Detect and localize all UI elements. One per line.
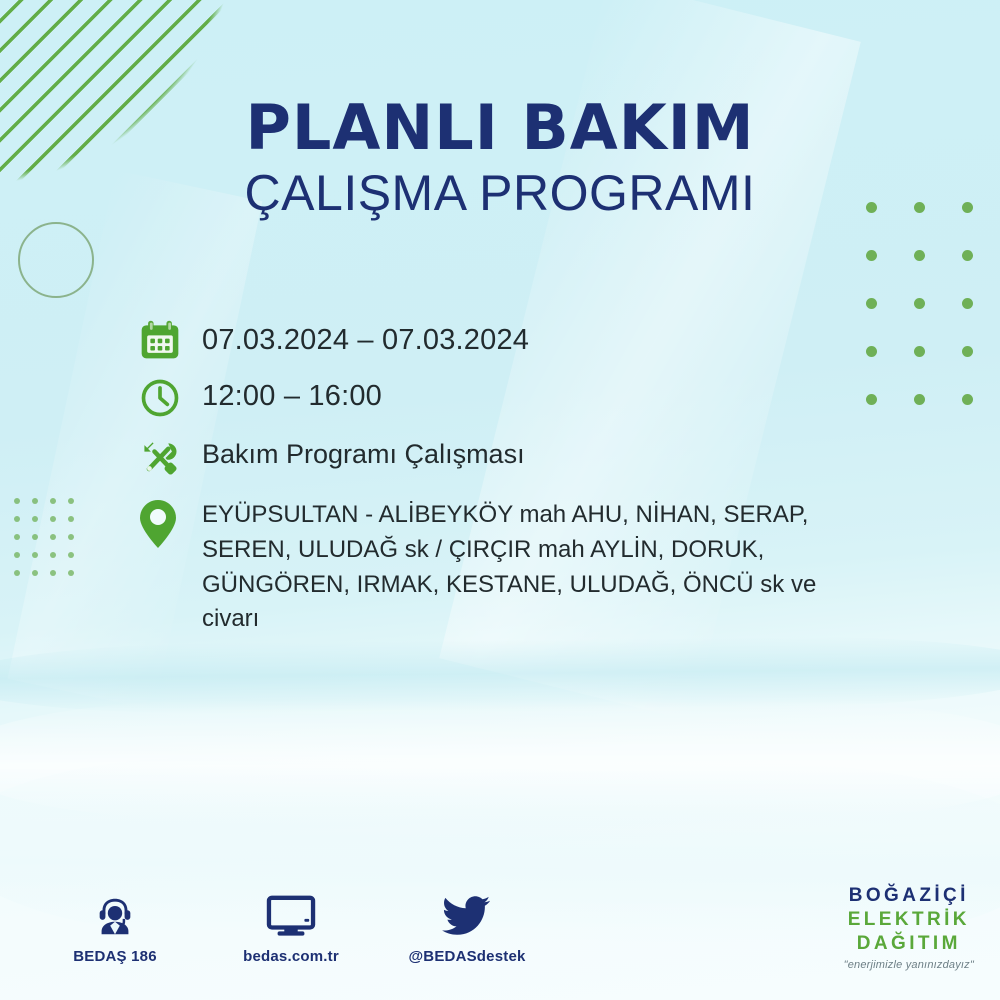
brand-logo: BOĞAZİÇİ ELEKTRİK DAĞITIM "enerjimizle y…: [844, 884, 974, 971]
contact-twitter[interactable]: @BEDASdestek: [407, 890, 527, 965]
decor-dot: [32, 570, 38, 576]
decor-dot: [50, 534, 56, 540]
decor-dot: [32, 552, 38, 558]
decor-dot: [32, 498, 38, 504]
decor-dot: [50, 570, 56, 576]
contact-bar: BEDAŞ 186 bedas.com.tr @BEDASdestek: [55, 890, 527, 965]
contact-phone-label: BEDAŞ 186: [55, 948, 175, 965]
brand-line-3: DAĞITIM: [844, 932, 974, 956]
contact-phone[interactable]: BEDAŞ 186: [55, 890, 175, 965]
info-row-location: EYÜPSULTAN - ALİBEYKÖY mah AHU, NİHAN, S…: [138, 498, 898, 637]
location-pin-icon: [138, 498, 202, 550]
background-wave: [0, 700, 1000, 820]
contact-website[interactable]: bedas.com.tr: [231, 890, 351, 965]
tools-icon: [138, 436, 202, 480]
monitor-icon: [231, 890, 351, 942]
calendar-icon: [138, 318, 202, 362]
decor-dot: [32, 516, 38, 522]
decor-dot: [68, 516, 74, 522]
contact-website-label: bedas.com.tr: [231, 948, 351, 965]
decor-dot: [14, 552, 20, 558]
info-block: 07.03.2024 – 07.03.2024 12:00 – 16:00: [138, 318, 898, 655]
brand-line-2: ELEKTRİK: [844, 908, 974, 932]
page-subtitle: ÇALIŞMA PROGRAMI: [0, 167, 1000, 220]
decor-dot: [914, 298, 925, 309]
decor-dot: [962, 298, 973, 309]
date-range-value: 07.03.2024 – 07.03.2024: [202, 318, 529, 357]
poster-canvas: PLANLI BAKIM ÇALIŞMA PROGRAMI: [0, 0, 1000, 1000]
decor-dot: [914, 394, 925, 405]
decor-dot: [866, 250, 877, 261]
info-row-work: Bakım Programı Çalışması: [138, 436, 898, 480]
decor-dot: [50, 498, 56, 504]
info-row-time: 12:00 – 16:00: [138, 376, 898, 420]
twitter-bird-icon: [407, 890, 527, 942]
contact-twitter-label: @BEDASdestek: [407, 948, 527, 965]
brand-line-1: BOĞAZİÇİ: [844, 884, 974, 908]
time-range-value: 12:00 – 16:00: [202, 376, 382, 413]
decor-dot: [68, 570, 74, 576]
decor-dot: [68, 498, 74, 504]
decor-dot: [32, 534, 38, 540]
decor-dot: [50, 552, 56, 558]
decor-dot: [68, 534, 74, 540]
decor-dot: [914, 346, 925, 357]
decor-dot: [50, 516, 56, 522]
circle-outline-decoration: [18, 222, 94, 298]
work-type-value: Bakım Programı Çalışması: [202, 436, 525, 470]
clock-icon: [138, 376, 202, 420]
decor-dot: [962, 346, 973, 357]
decor-dot: [14, 516, 20, 522]
location-value: EYÜPSULTAN - ALİBEYKÖY mah AHU, NİHAN, S…: [202, 498, 842, 637]
decor-dot: [14, 534, 20, 540]
info-row-date: 07.03.2024 – 07.03.2024: [138, 318, 898, 362]
decor-dot: [914, 250, 925, 261]
brand-slogan: "enerjimizle yanınızdayız": [844, 959, 974, 971]
decor-dot: [962, 394, 973, 405]
decor-dot: [866, 298, 877, 309]
decor-dot: [14, 570, 20, 576]
decor-dot: [14, 498, 20, 504]
support-agent-icon: [55, 890, 175, 942]
decor-dot: [962, 250, 973, 261]
decor-dot: [68, 552, 74, 558]
dot-grid-left-decoration: [14, 498, 86, 588]
poster-header: PLANLI BAKIM ÇALIŞMA PROGRAMI: [0, 96, 1000, 220]
page-title: PLANLI BAKIM: [0, 96, 1000, 159]
